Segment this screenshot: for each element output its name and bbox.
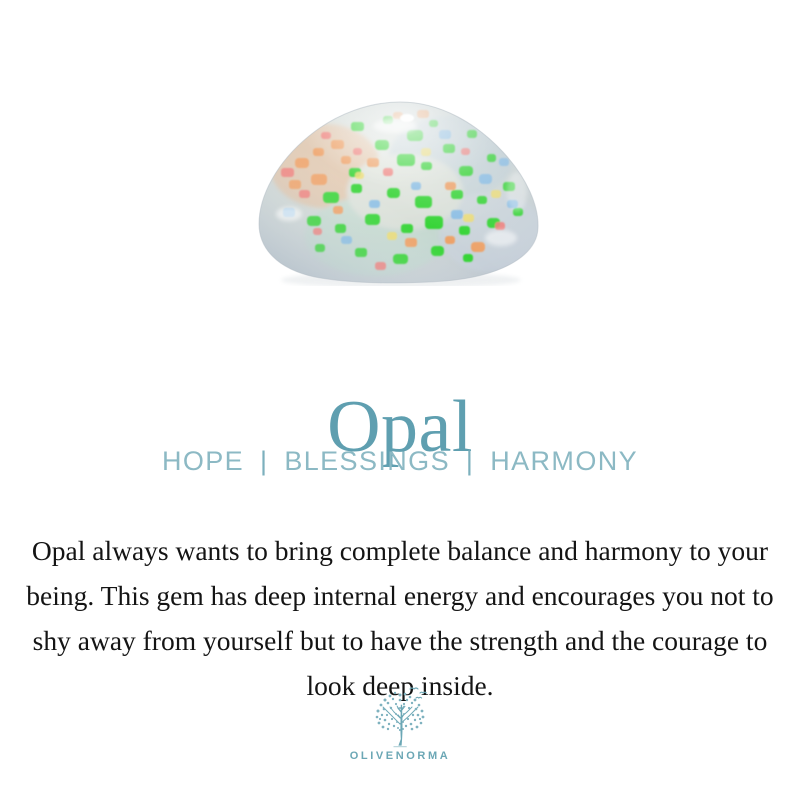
opal-cabochon-icon: [255, 96, 545, 286]
keyword-separator-1: |: [253, 446, 275, 476]
brand-wordmark: OLIVENORMA: [0, 750, 800, 762]
keyword-blessings: BLESSINGS: [284, 446, 450, 476]
keyword-separator-2: |: [459, 446, 481, 476]
keyword-harmony: HARMONY: [490, 446, 638, 476]
gemstone-image: [0, 96, 800, 296]
description-text: Opal always wants to bring complete bala…: [18, 528, 782, 708]
keyword-list: HOPE | BLESSINGS | HARMONY: [0, 444, 800, 478]
gemstone-info-card: Opal HOPE | BLESSINGS | HARMONY Opal alw…: [0, 0, 800, 800]
keyword-hope: HOPE: [162, 446, 244, 476]
brand-logo: OLIVENORMA: [0, 682, 800, 762]
tree-of-life-icon: [363, 682, 437, 748]
